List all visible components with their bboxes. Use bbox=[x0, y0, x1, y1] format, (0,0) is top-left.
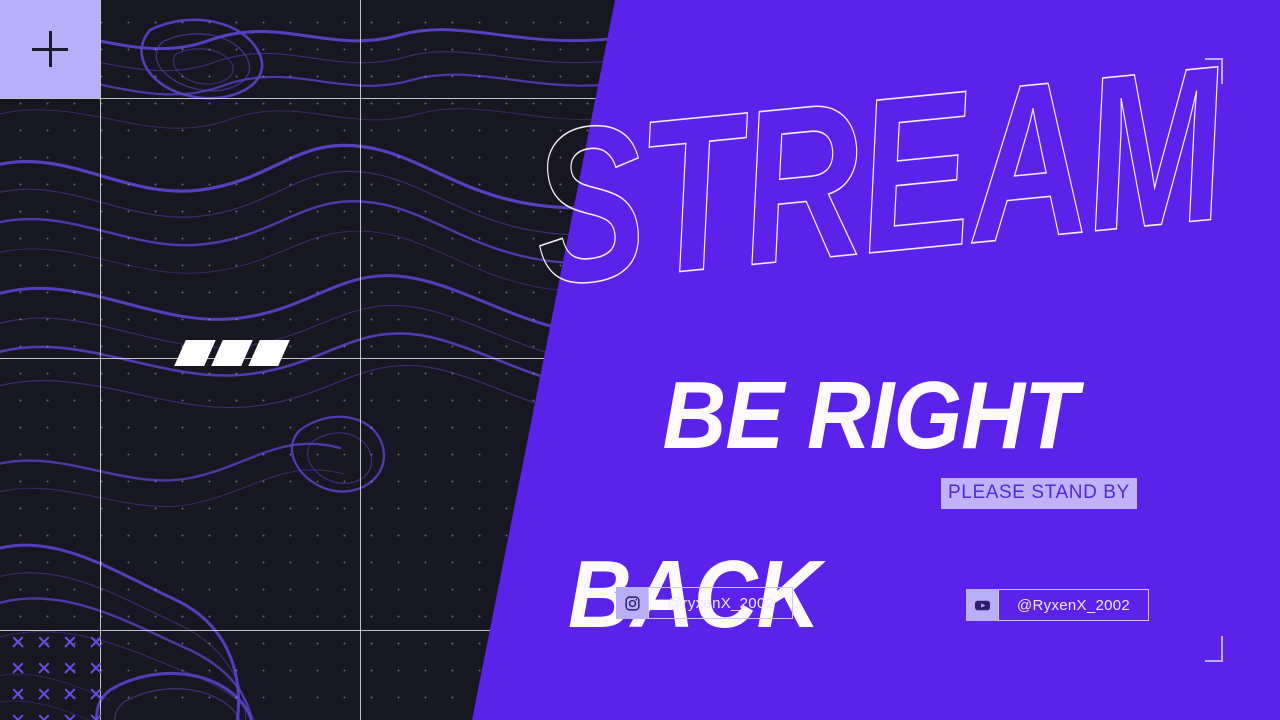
guide-line-horizontal-1 bbox=[0, 98, 640, 99]
triple-slash-icon bbox=[180, 340, 284, 366]
stream-overlay-canvas: STREAM BE RIGHT BACK PLEASE STAND BY @ry… bbox=[0, 0, 1280, 720]
guide-line-vertical-1 bbox=[100, 0, 101, 720]
x-pattern-icon bbox=[8, 630, 112, 720]
social-handle-instagram: @ryxenX_2002 bbox=[648, 587, 793, 619]
guide-line-vertical-2 bbox=[360, 0, 361, 720]
instagram-icon bbox=[616, 587, 648, 619]
social-chip-youtube[interactable]: @RyxenX_2002 bbox=[966, 589, 1149, 621]
stream-outline-word: STREAM bbox=[523, 28, 1242, 325]
guide-line-horizontal-2 bbox=[0, 358, 640, 359]
status-badge-standby: PLEASE STAND BY bbox=[941, 478, 1137, 509]
corner-accent-square bbox=[0, 0, 100, 98]
corner-bracket-top-right-icon bbox=[1205, 58, 1223, 84]
youtube-icon bbox=[966, 589, 998, 621]
social-chip-instagram[interactable]: @ryxenX_2002 bbox=[616, 587, 793, 619]
dot-grid-pattern bbox=[0, 0, 640, 720]
social-handle-youtube: @RyxenX_2002 bbox=[998, 589, 1149, 621]
dark-texture-panel bbox=[0, 0, 640, 720]
corner-bracket-bottom-right-icon bbox=[1205, 636, 1223, 662]
headline-line-1: BE RIGHT bbox=[662, 362, 1077, 469]
